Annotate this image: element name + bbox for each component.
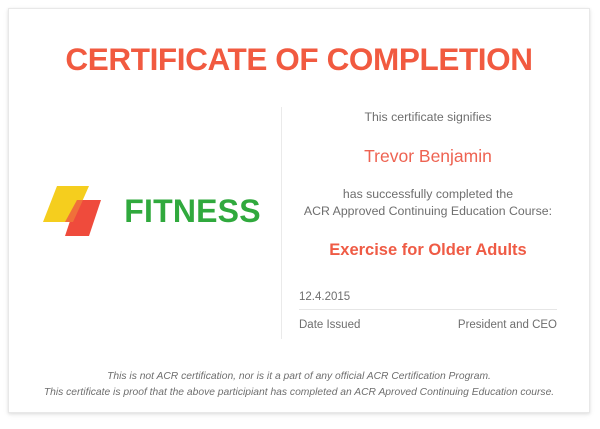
certificate-card: CERTIFICATE OF COMPLETION FITNESS This c…: [8, 8, 590, 413]
signature-area: 12.4.2015 Date Issued President and CEO: [299, 291, 557, 331]
column-divider: [281, 107, 282, 339]
logo-wordmark: FITNESS: [124, 195, 261, 227]
fitness-logo-mark: [43, 182, 115, 240]
course-name: Exercise for Older Adults: [299, 241, 557, 260]
completion-line-2: ACR Approved Continuing Education Course…: [299, 203, 557, 220]
intro-text: This certificate signifies: [299, 109, 557, 126]
recipient-name: Trevor Benjamin: [299, 146, 557, 167]
certificate-body: This certificate signifies Trevor Benjam…: [299, 109, 557, 260]
signature-labels: Date Issued President and CEO: [299, 319, 557, 331]
organization-logo: FITNESS: [27, 171, 277, 251]
certificate-title: CERTIFICATE OF COMPLETION: [9, 41, 589, 78]
disclaimer-note: This is not ACR certification, nor is it…: [9, 369, 589, 401]
signer-title-label: President and CEO: [458, 319, 557, 331]
completion-statement: has successfully completed the ACR Appro…: [299, 186, 557, 220]
completion-line-1: has successfully completed the: [299, 186, 557, 203]
signature-rule: [299, 309, 557, 310]
disclaimer-line-2: This certificate is proof that the above…: [9, 385, 589, 401]
date-issued-label: Date Issued: [299, 319, 360, 331]
date-issued-value: 12.4.2015: [299, 291, 557, 309]
disclaimer-line-1: This is not ACR certification, nor is it…: [9, 369, 589, 385]
